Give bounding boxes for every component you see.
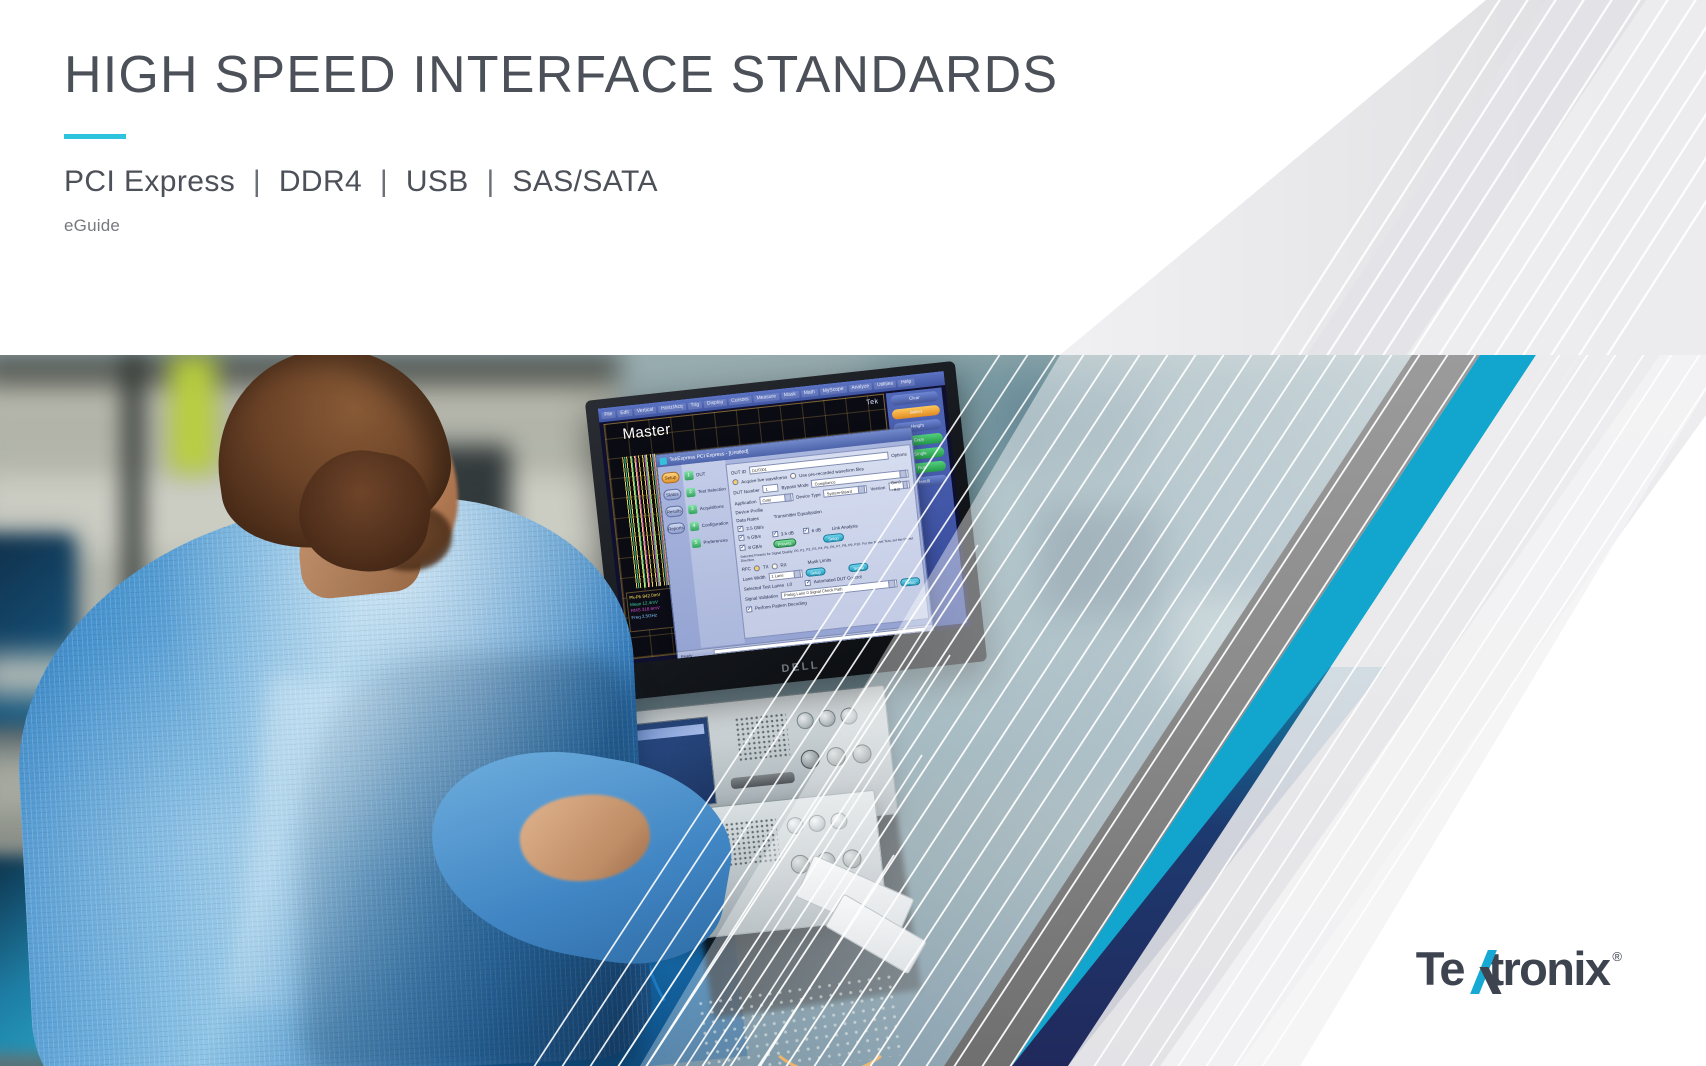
step-number-4: 4 — [689, 521, 699, 531]
checkbox-data-rate-25[interactable] — [737, 526, 744, 533]
instrument-bottom-knob-3[interactable] — [830, 812, 849, 831]
scope-menu-measure[interactable]: Measure — [753, 392, 779, 402]
radio-prerecorded[interactable] — [790, 473, 797, 480]
instrument-top-knob-1[interactable] — [796, 711, 815, 730]
tektronix-logo: Tektronix ® — [1416, 945, 1622, 992]
step-number-1: 1 — [684, 471, 694, 481]
standard-ddr4: DDR4 — [279, 165, 362, 198]
label-rfc-tx: TX — [763, 564, 769, 570]
logo-text-te: Te — [1416, 942, 1464, 995]
button-signal-setup[interactable]: Setup — [900, 577, 921, 587]
registered-trademark-symbol: ® — [1612, 949, 1622, 964]
stripe-graphic-svg — [1006, 0, 1706, 400]
scope-menu-utilities[interactable]: Utilities — [874, 380, 897, 389]
label-eq-6db: 6 dB — [811, 527, 821, 533]
label-link-analysis: Link Analysis — [832, 523, 858, 531]
scope-menu-horizacq[interactable]: Horiz/Acq — [658, 403, 686, 413]
instrument-bottom-port-3 — [842, 848, 863, 869]
select-version[interactable]: Gen3 - 8.0 — [888, 480, 911, 490]
tekexpress-step-acquisitions[interactable]: 3 Acquisitions — [687, 500, 728, 515]
standard-pci-express: PCI Express — [64, 165, 235, 198]
tekexpress-nav-setup[interactable]: Setup — [661, 471, 680, 484]
scope-sidebar-clear[interactable]: Clear — [890, 391, 939, 406]
label-device-profile: Device Profile — [735, 507, 763, 515]
tekexpress-app-icon — [659, 457, 667, 465]
tekexpress-nav-results[interactable]: Results — [665, 505, 684, 518]
tekexpress-step-test-selection[interactable]: 2 Test Selection — [685, 483, 726, 498]
checkbox-data-rate-8[interactable] — [739, 545, 746, 552]
accent-rule-divider — [64, 134, 126, 139]
subtitle-separator-3: | — [477, 165, 503, 198]
scope-sidebar-select[interactable]: Select — [892, 405, 941, 420]
button-link-analysis-setup[interactable]: Setup — [823, 533, 844, 543]
label-version: Version — [870, 485, 885, 492]
cover-header: HIGH SPEED INTERFACE STANDARDS PCI Expre… — [64, 48, 1058, 236]
instrument-top-port-2 — [826, 746, 847, 767]
step-number-5: 5 — [691, 538, 701, 548]
step-number-3: 3 — [687, 505, 697, 515]
label-data-rate-5: 5 GB/s — [747, 533, 761, 539]
scope-menu-math[interactable]: Math — [800, 388, 818, 397]
scope-menu-vertical[interactable]: Vertical — [634, 406, 657, 415]
button-lane-setup[interactable]: Setup — [805, 567, 826, 577]
checkbox-eq-35db[interactable] — [772, 531, 779, 538]
label-signal-validation: Signal Validation — [745, 594, 779, 603]
tekexpress-step-preferences[interactable]: 5 Preferences — [691, 534, 732, 549]
eguide-cover-page: HIGH SPEED INTERFACE STANDARDS PCI Expre… — [0, 0, 1706, 1066]
checkbox-automated-dut-control[interactable] — [805, 579, 812, 586]
label-rfc-rx: RX — [780, 562, 787, 568]
scope-menu-help[interactable]: Help — [898, 378, 915, 387]
label-application: Application — [734, 499, 756, 506]
link-options[interactable]: Options — [891, 451, 907, 458]
tektronix-wordmark: Tektronix — [1416, 945, 1610, 992]
button-mask-limits-setup[interactable]: Setup — [848, 562, 869, 572]
monitor-screen[interactable]: File Edit Vertical Horiz/Acq Trig Displa… — [598, 371, 972, 664]
instrument-top-knob-3[interactable] — [840, 707, 859, 726]
scope-menu-file[interactable]: File — [601, 410, 616, 418]
tekexpress-dut-panel: DUT ID DUT001 Options Acquire live wavef… — [725, 444, 929, 639]
label-selected-test-lanes: Selected Test Lanes — [744, 583, 785, 592]
background-blur-shape-2 — [1170, 595, 1280, 695]
step-label-test-selection: Test Selection — [698, 486, 726, 494]
instrument-top-port-1 — [800, 749, 821, 770]
radio-rfc-rx[interactable] — [771, 563, 778, 570]
tekexpress-nav-reports[interactable]: Reports — [667, 522, 686, 535]
radio-rfc-tx[interactable] — [754, 565, 761, 572]
label-dut-number: DUT Number — [733, 487, 760, 495]
background-green-box — [170, 355, 216, 473]
instrument-top-handle[interactable] — [730, 772, 795, 790]
subtitle-separator-2: | — [371, 165, 397, 198]
scope-menu-cursors[interactable]: Cursors — [728, 395, 752, 404]
step-label-preferences: Preferences — [703, 537, 728, 545]
tekexpress-dialog[interactable]: TekExpress PCI Express - [Untitled] Setu… — [655, 427, 934, 662]
standards-subtitle: PCI Express | DDR4 | USB | SAS/SATA — [64, 165, 1058, 199]
label-data-rate-8: 8 GB/s — [748, 543, 762, 549]
select-application[interactable]: CeM — [759, 493, 794, 505]
tekexpress-step-dut[interactable]: 1 DUT — [684, 466, 725, 481]
scope-menu-analyze[interactable]: Analyze — [848, 382, 872, 392]
step-label-dut: DUT — [696, 471, 706, 477]
label-dut-id: DUT ID — [731, 468, 746, 475]
orange-cable — [760, 965, 900, 1066]
label-mask-limits: Mask Limits — [807, 558, 831, 566]
step-label-configuration: Configuration — [701, 520, 728, 528]
checkbox-eq-6db[interactable] — [802, 528, 809, 535]
oscilloscope-software-ui: File Edit Vertical Horiz/Acq Trig Displa… — [598, 371, 972, 664]
label-data-rate-25: 2.5 GB/s — [746, 524, 764, 531]
instrument-bottom-knob-1[interactable] — [786, 816, 805, 835]
scope-menu-trig[interactable]: Trig — [687, 401, 702, 410]
instrument-top-port-3 — [852, 743, 873, 764]
instrument-top-knob-2[interactable] — [818, 709, 837, 728]
scope-status-badge: Tek — [866, 398, 879, 406]
subtitle-separator-1: | — [244, 165, 270, 198]
checkbox-data-rate-5[interactable] — [738, 535, 745, 542]
document-type-kicker: eGuide — [64, 216, 1058, 236]
scope-menu-myscope[interactable]: MyScope — [819, 385, 846, 395]
label-lane-width: Lane Width — [743, 575, 766, 582]
tekexpress-nav-status[interactable]: Status — [663, 488, 682, 501]
label-eq-35db: 3.5 dB — [781, 530, 794, 536]
label-rfc: RFC — [741, 566, 751, 572]
step-number-2: 2 — [686, 488, 696, 498]
top-right-diagonal-stripe-graphic — [1006, 0, 1706, 400]
scope-menu-mask[interactable]: Mask — [781, 390, 800, 399]
standard-usb: USB — [406, 165, 469, 198]
background-blur-shape-1 — [1040, 505, 1160, 615]
dell-monitor: File Edit Vertical Horiz/Acq Trig Displa… — [585, 361, 987, 701]
standard-sas-sata: SAS/SATA — [512, 165, 657, 198]
button-presets[interactable]: Presets — [772, 538, 796, 548]
input-dut-number[interactable]: 1 — [762, 484, 779, 494]
radio-acquire-live[interactable] — [732, 479, 739, 486]
scope-menu-edit[interactable]: Edit — [617, 408, 632, 417]
instrument-bottom-knob-2[interactable] — [808, 814, 827, 833]
checkbox-pattern-decoding[interactable] — [746, 606, 753, 613]
select-lane-width[interactable]: 1 Lane — [768, 569, 803, 581]
step-label-acquisitions: Acquisitions — [700, 504, 724, 512]
label-bypass-mode: Bypass Mode — [781, 482, 809, 490]
logo-text-tronix: tronix — [1488, 942, 1609, 995]
label-device-type: Device Type — [796, 492, 821, 500]
scope-menu-display[interactable]: Display — [704, 398, 727, 407]
background-blur-shape-3 — [1000, 385, 1150, 475]
label-data-rates: Data Rates — [736, 516, 759, 523]
page-title: HIGH SPEED INTERFACE STANDARDS — [64, 48, 1058, 103]
instrument-top-vent — [734, 712, 791, 763]
label-pattern-decoding: Perform Pattern Decoding — [755, 601, 807, 612]
tekexpress-step-configuration[interactable]: 4 Configuration — [689, 517, 730, 532]
value-selected-test-lanes: L0 — [787, 582, 793, 588]
band-edge-filler — [1386, 355, 1536, 667]
tekexpress-body: Setup Status Results Reports 1 DUT — [657, 440, 931, 651]
